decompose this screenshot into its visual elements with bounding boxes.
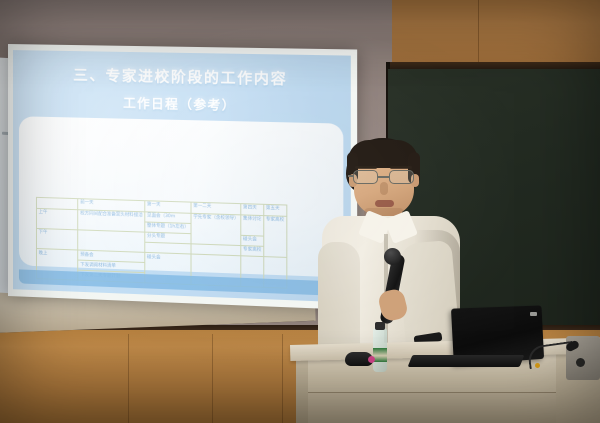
slide-subtitle: 工作日程（参考） [13,90,351,116]
wainscot-seam [128,334,129,423]
table-cell: 集体讨论 [241,215,264,236]
lens-right [389,170,414,184]
bottle-cap [375,322,385,330]
wood-panel-upper [392,0,600,66]
table-header-cell: 第五天 [264,204,287,216]
mouse-accent [368,356,375,363]
presenter [318,138,464,363]
mouth [375,200,394,207]
projected-slide: 三、专家进校阶段的工作内容 工作日程（参考） 前一天 第一天 第一二天 第四天 … [13,50,351,302]
podium-leg [296,360,308,423]
slide-content-plate: 前一天 第一天 第一二天 第四天 第五天 上午 校方同间配合准备案头材料接洽 见… [19,116,343,277]
table-cell: 校方同间配合准备案头材料接洽 [78,210,145,232]
wood-panel-seam [478,0,479,66]
wainscot-seam [212,334,213,423]
eyebrow-left [355,166,377,169]
arm-left [318,242,360,360]
glasses-bridge [378,176,389,178]
projection-screen: 三、专家进校阶段的工作内容 工作日程（参考） 前一天 第一天 第一二天 第四天 … [8,44,357,310]
podium-control-knob [576,358,585,367]
table-cell [78,230,145,253]
podium-front-panel [306,392,556,423]
slide-title: 三、专家进校阶段的工作内容 [13,63,351,91]
wainscot-seam [282,334,283,423]
nose [380,182,388,195]
row-label: 下午 [36,229,78,251]
eyebrow-right [390,166,412,169]
laptop-logo [530,312,537,316]
table-cell: 专家离校 [264,216,287,258]
photo-scene: 三、专家进校阶段的工作内容 工作日程（参考） 前一天 第一天 第一二天 第四天 … [0,0,600,423]
lens-left [353,170,378,184]
row-label: 上午 [36,208,78,230]
glasses-temple [348,175,354,177]
table-header-cell: 第四天 [241,204,264,216]
laptop-keyboard [408,355,525,367]
gooseneck-mic-led [535,363,540,368]
table-cell: 学先专家（含校领导） [191,213,241,245]
bottle-label [373,348,387,362]
